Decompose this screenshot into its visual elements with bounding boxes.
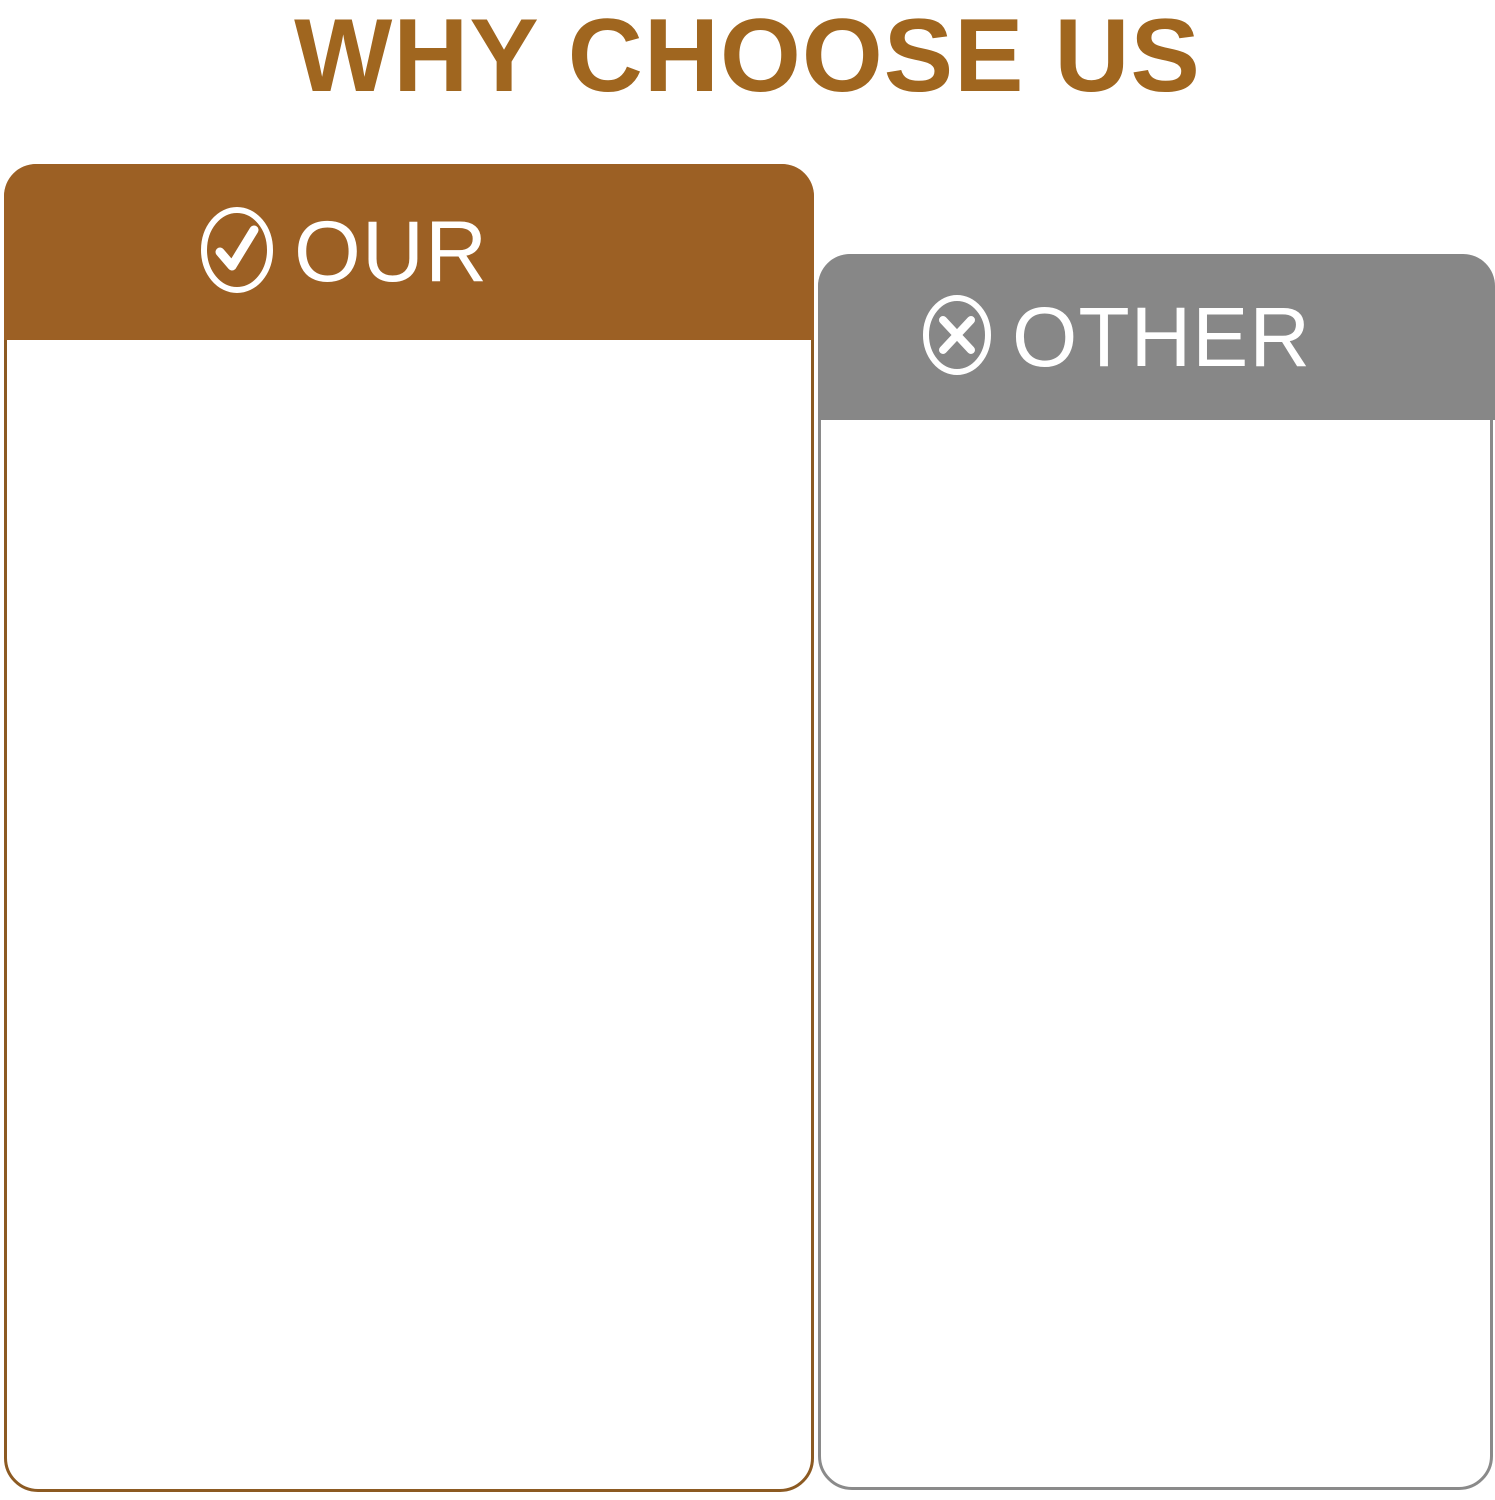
our-panel bbox=[4, 164, 814, 1492]
check-circle-icon bbox=[196, 202, 278, 303]
page-title: WHY CHOOSE US bbox=[0, 0, 1495, 119]
tab-other-label: OTHER bbox=[1012, 295, 1311, 379]
x-circle-icon bbox=[918, 291, 996, 384]
tab-other[interactable]: OTHER bbox=[818, 254, 1495, 420]
tab-our[interactable]: OUR bbox=[4, 164, 814, 340]
other-panel bbox=[818, 254, 1493, 1490]
tab-our-label: OUR bbox=[294, 209, 488, 295]
